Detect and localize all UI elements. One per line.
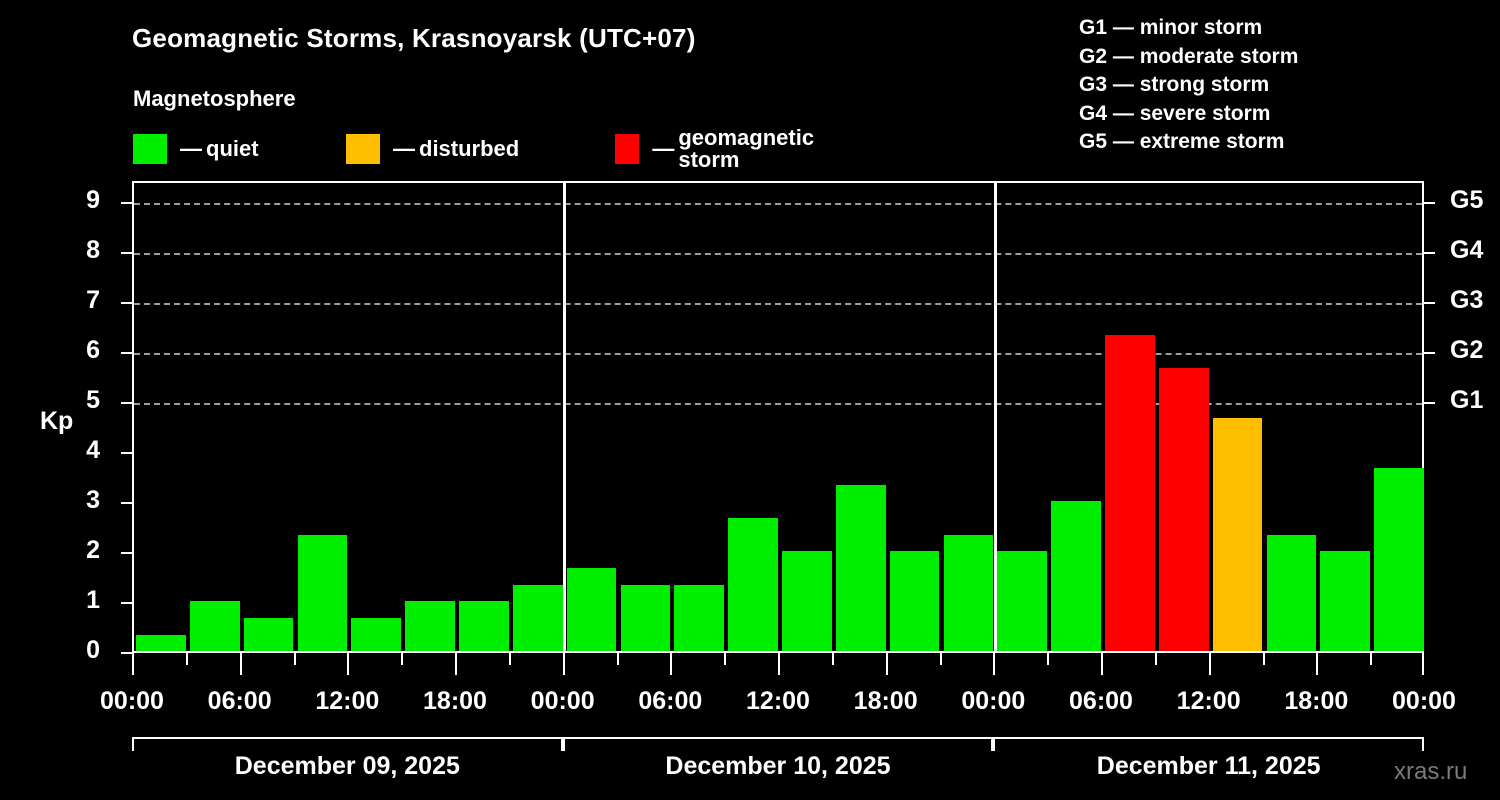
x-tick-label: 00:00 xyxy=(1354,687,1494,716)
y-tick xyxy=(121,452,132,454)
plot-inner xyxy=(134,183,1422,651)
x-tick-major xyxy=(670,653,672,675)
x-tick-major xyxy=(455,653,457,675)
x-tick-minor xyxy=(617,653,619,665)
g-text: severe storm xyxy=(1140,102,1271,125)
legend-item-quiet: —quiet xyxy=(133,134,259,164)
x-tick-minor xyxy=(832,653,834,665)
x-tick-minor xyxy=(509,653,511,665)
x-tick-major xyxy=(132,653,134,675)
legend-label: quiet xyxy=(206,138,259,160)
bar xyxy=(244,618,294,652)
bar xyxy=(567,568,617,652)
legend-dash: — xyxy=(393,138,415,160)
bar xyxy=(405,601,455,651)
y-tick xyxy=(121,502,132,504)
x-tick-major xyxy=(563,653,565,675)
g-code: G4 xyxy=(1079,102,1107,125)
g-text: moderate storm xyxy=(1140,45,1299,68)
bar xyxy=(944,535,994,652)
g-legend-row-g3: G3 — strong storm xyxy=(1079,71,1298,100)
legend-item-disturbed: —disturbed xyxy=(346,134,519,164)
orange-square-swatch xyxy=(346,134,380,164)
red-square-swatch xyxy=(615,134,639,164)
bar xyxy=(351,618,401,652)
g-legend-row-g4: G4 — severe storm xyxy=(1079,100,1298,129)
bar xyxy=(513,585,563,652)
plot-area xyxy=(132,181,1424,653)
y-tick xyxy=(121,602,132,604)
bar xyxy=(1374,468,1424,652)
g-dash: — xyxy=(1107,45,1140,68)
legend-item-geomagnetic-storm: —geomagnetic storm xyxy=(615,134,824,164)
x-tick-major xyxy=(993,653,995,675)
y-tick-label: 3 xyxy=(60,486,100,515)
watermark: xras.ru xyxy=(1394,758,1467,786)
y-tick-label: 4 xyxy=(60,436,100,465)
bar xyxy=(136,635,186,652)
bar xyxy=(1320,551,1370,651)
g-axis-label-g1: G1 xyxy=(1450,386,1500,415)
bar xyxy=(1159,368,1209,652)
g-axis-label-g2: G2 xyxy=(1450,336,1500,365)
y-tick-label: 1 xyxy=(60,586,100,615)
x-tick-minor xyxy=(401,653,403,665)
x-tick-major xyxy=(778,653,780,675)
y-tick-label: 9 xyxy=(60,186,100,215)
x-tick-minor xyxy=(186,653,188,665)
g-axis-label-g4: G4 xyxy=(1450,236,1500,265)
legend-label: disturbed xyxy=(419,138,519,160)
bar xyxy=(674,585,724,652)
x-tick-major xyxy=(1101,653,1103,675)
bar xyxy=(782,551,832,651)
bar xyxy=(459,601,509,651)
g-code: G1 xyxy=(1079,16,1107,39)
x-tick-major xyxy=(1422,653,1424,675)
y-tick-label: 6 xyxy=(60,336,100,365)
day-bracket xyxy=(563,737,994,751)
bar xyxy=(1051,501,1101,651)
g-axis-tick xyxy=(1424,302,1435,304)
subtitle-magnetosphere: Magnetosphere xyxy=(133,86,296,112)
day-label: December 09, 2025 xyxy=(132,752,563,781)
bar xyxy=(1105,335,1155,652)
y-tick-label: 2 xyxy=(60,536,100,565)
day-bracket xyxy=(993,737,1424,751)
x-tick-major xyxy=(886,653,888,675)
y-tick-label: 7 xyxy=(60,286,100,315)
y-tick-label: 8 xyxy=(60,236,100,265)
g-code: G3 xyxy=(1079,73,1107,96)
y-tick xyxy=(121,652,132,654)
bar xyxy=(728,518,778,652)
day-bracket xyxy=(132,737,563,751)
g-legend-row-g5: G5 — extreme storm xyxy=(1079,128,1298,157)
page-title: Geomagnetic Storms, Krasnoyarsk (UTC+07) xyxy=(132,23,696,54)
x-tick-major xyxy=(1316,653,1318,675)
g-code: G2 xyxy=(1079,45,1107,68)
g-text: minor storm xyxy=(1140,16,1263,39)
legend-dash: — xyxy=(652,138,674,160)
bar xyxy=(836,485,886,652)
bar xyxy=(997,551,1047,651)
y-tick xyxy=(121,352,132,354)
x-tick-minor xyxy=(1155,653,1157,665)
g-dash: — xyxy=(1107,102,1140,125)
geomagnetic-storm-chart: Geomagnetic Storms, Krasnoyarsk (UTC+07)… xyxy=(0,0,1500,800)
day-label: December 11, 2025 xyxy=(993,752,1424,781)
bar xyxy=(890,551,940,651)
g-dash: — xyxy=(1107,73,1140,96)
g-dash: — xyxy=(1107,16,1140,39)
bar-series xyxy=(134,183,1422,651)
y-tick xyxy=(121,302,132,304)
bar xyxy=(1267,535,1317,652)
g-code: G5 xyxy=(1079,130,1107,153)
bar xyxy=(298,535,348,652)
y-tick xyxy=(121,252,132,254)
y-tick xyxy=(121,552,132,554)
bar xyxy=(1213,418,1263,652)
y-tick-label: 0 xyxy=(60,636,100,665)
g-axis-tick xyxy=(1424,402,1435,404)
bar xyxy=(621,585,671,652)
g-axis-tick xyxy=(1424,352,1435,354)
g-axis-label-g5: G5 xyxy=(1450,186,1500,215)
bar xyxy=(190,601,240,651)
green-square-swatch xyxy=(133,134,167,164)
x-tick-minor xyxy=(1047,653,1049,665)
x-tick-major xyxy=(240,653,242,675)
x-tick-major xyxy=(1209,653,1211,675)
g-text: strong storm xyxy=(1140,73,1270,96)
y-tick-label: 5 xyxy=(60,386,100,415)
x-tick-minor xyxy=(1263,653,1265,665)
g-dash: — xyxy=(1107,130,1140,153)
g-text: extreme storm xyxy=(1140,130,1285,153)
g-legend-row-g2: G2 — moderate storm xyxy=(1079,43,1298,72)
g-scale-legend: G1 — minor stormG2 — moderate stormG3 — … xyxy=(1079,14,1298,157)
g-legend-row-g1: G1 — minor storm xyxy=(1079,14,1298,43)
day-label: December 10, 2025 xyxy=(563,752,994,781)
x-tick-major xyxy=(347,653,349,675)
x-tick-minor xyxy=(940,653,942,665)
x-tick-minor xyxy=(724,653,726,665)
g-axis-label-g3: G3 xyxy=(1450,286,1500,315)
x-tick-minor xyxy=(294,653,296,665)
legend-label: geomagnetic storm xyxy=(678,127,823,171)
y-tick xyxy=(121,202,132,204)
g-axis-tick xyxy=(1424,252,1435,254)
x-tick-minor xyxy=(1370,653,1372,665)
legend-dash: — xyxy=(180,138,202,160)
g-axis-tick xyxy=(1424,202,1435,204)
y-tick xyxy=(121,402,132,404)
x-axis-ticks xyxy=(132,653,1424,683)
